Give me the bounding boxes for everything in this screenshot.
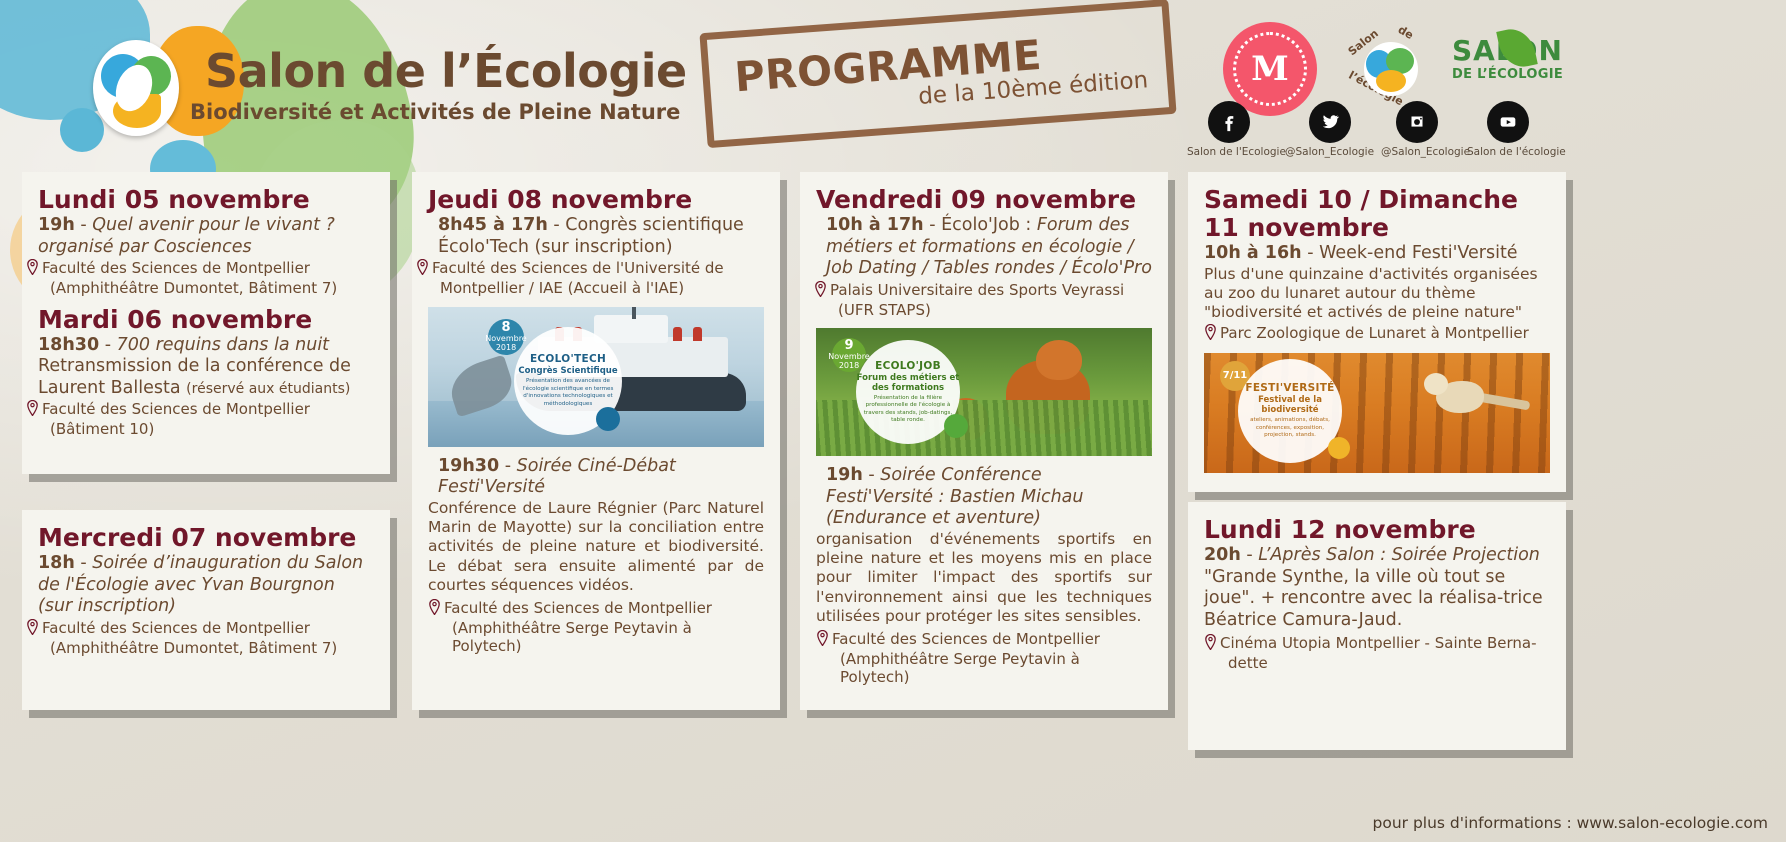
event-time: 10h à 17h [826, 215, 924, 235]
event-place: Parc Zoologique de Lunaret à Montpellier [1204, 324, 1550, 344]
event-place: Faculté des Sciences de Montpellier (Amp… [38, 619, 374, 658]
event-description: organisation d'événements sportifs en pl… [816, 530, 1152, 627]
event-vendredi-09-conference: 19h - Soirée Conférence Festi'Versité : … [816, 465, 1152, 686]
event-place: Faculté des Sciences de Montpellier (Bât… [38, 400, 374, 439]
event-weekend-festiversite: 10h à 16h - Week-end Festi'Versité Plus … [1204, 243, 1550, 344]
location-pin-icon [428, 259, 429, 279]
youtube-icon[interactable] [1487, 101, 1529, 143]
event-place: Cinéma Utopia Montpellier - Sainte Berna… [1204, 634, 1550, 673]
page-subtitle: Biodiversité et Activités de Pleine Natu… [190, 100, 680, 124]
location-pin-icon [1216, 324, 1217, 344]
event-mercredi-07: 18h - Soirée d’inauguration du Salon de … [38, 553, 374, 657]
event-time: 19h [826, 465, 863, 485]
twitter-label: @Salon_Ecologie [1285, 146, 1374, 158]
day-title-jeudi-08: Jeudi 08 novembre [428, 186, 764, 214]
twitter-icon[interactable] [1309, 101, 1351, 143]
event-sep: - [75, 215, 92, 235]
card-lundi12: Lundi 12 novembre 20h - L’Après Salon : … [1188, 502, 1566, 750]
salon-ecologie-round-logo-icon: Salon de l’écologie [1340, 20, 1442, 116]
event-note: (réservé aux étudiants) [186, 381, 350, 397]
day-title-mardi-06: Mardi 06 novembre [38, 306, 374, 334]
event-place: Faculté des Sciences de Montpellier (Amp… [428, 599, 764, 656]
ecolotech-date-badge: 8 Novembre 2018 [488, 319, 524, 355]
footer-info: pour plus d'informations : www.salon-eco… [1373, 814, 1769, 832]
event-jeudi-08-congres: 8h45 à 17h - Congrès scientifique Écolo'… [428, 215, 764, 298]
location-pin-icon [1216, 634, 1217, 654]
event-place: Faculté des Sciences de l'Université de … [428, 259, 764, 298]
event-time: 18h30 [38, 335, 99, 355]
card-lundi05-mardi06: Lundi 05 novembre 19h - Quel avenir pour… [22, 172, 390, 474]
festiversite-badge: FESTI'VERSITÉ Festival de la biodiversit… [1238, 359, 1342, 463]
event-place: Faculté des Sciences de Montpellier (Amp… [816, 630, 1152, 687]
event-sep: - [1241, 545, 1258, 565]
instagram-icon[interactable] [1396, 101, 1438, 143]
festiversite-photo: 7/11 FESTI'VERSITÉ Festival de la biodiv… [1204, 353, 1550, 473]
event-time: 10h à 16h [1204, 243, 1302, 263]
location-pin-icon [826, 281, 827, 301]
location-pin-icon [38, 400, 39, 420]
salon-ecologie-green-logo-icon: SALON DE L’ÉCOLOGIE [1452, 34, 1582, 104]
day-title-lundi-05: Lundi 05 novembre [38, 186, 374, 214]
day-title-vendredi-09: Vendredi 09 novembre [816, 186, 1152, 214]
event-sep: - [924, 215, 941, 235]
day-title-samedi-dimanche: Samedi 10 / Dimanche 11 novembre [1204, 186, 1550, 242]
event-title-2: organisé par Cosciences [38, 237, 374, 259]
event-sep: - [99, 335, 116, 355]
green-logo-subtitle: DE L’ÉCOLOGIE [1452, 67, 1582, 82]
location-pin-icon [440, 599, 441, 619]
event-mardi-06: 18h30 - 700 requins dans la nuit Retrans… [38, 335, 374, 439]
event-description: Plus d'une quinzaine d'activités organis… [1204, 265, 1550, 323]
facebook-label: Salon de l'Ecologie [1187, 146, 1286, 158]
event-title: 700 requins dans la nuit [117, 335, 329, 355]
event-time: 19h30 [438, 456, 499, 476]
page-header: Salon de l’Écologie Biodiversité et Acti… [0, 0, 1786, 168]
instagram-label: @Salon_Ecologie [1381, 146, 1470, 158]
salon-logo-icon [93, 40, 179, 136]
page-title: Salon de l’Écologie [205, 44, 687, 98]
round-logo-text-2: de [1396, 23, 1416, 42]
location-pin-icon [828, 630, 829, 650]
card-jeudi08: Jeudi 08 novembre 8h45 à 17h - Congrès s… [412, 172, 780, 710]
event-sep: - [1302, 243, 1319, 263]
day-title-mercredi-07: Mercredi 07 novembre [38, 524, 374, 552]
event-lundi-05: 19h - Quel avenir pour le vivant ? organ… [38, 215, 374, 298]
event-sep: - [548, 215, 565, 235]
event-time: 20h [1204, 545, 1241, 565]
location-pin-icon [38, 259, 39, 279]
event-sep: - [863, 465, 880, 485]
event-title: Quel avenir pour le vivant ? [92, 215, 335, 235]
location-pin-icon [38, 619, 39, 639]
event-time: 18h [38, 553, 75, 573]
event-title-plain: Écolo'Job : [941, 215, 1037, 235]
event-sep: - [499, 456, 516, 476]
event-vendredi-09-ecolojob: 10h à 17h - Écolo'Job : Forum des métier… [816, 215, 1152, 319]
event-description: "Grande Synthe, la ville où tout se joue… [1204, 567, 1543, 630]
event-place: Palais Universitaire des Sports Veyrassi… [816, 281, 1152, 320]
card-mercredi07: Mercredi 07 novembre 18h - Soirée d’inau… [22, 510, 390, 710]
event-time: 8h45 à 17h [438, 215, 548, 235]
event-time: 19h [38, 215, 75, 235]
event-lundi-12: 20h - L’Après Salon : Soirée Projection … [1204, 545, 1550, 673]
ecolojob-photo: 9 Novembre 2018 ECOLO'JOB Forum des méti… [816, 328, 1152, 456]
ecolotech-photo: 8 Novembre 2018 ECOLO'TECH Congrès Scien… [428, 307, 764, 447]
facebook-icon[interactable] [1208, 101, 1250, 143]
card-samedi10-dimanche11: Samedi 10 / Dimanche 11 novembre 10h à 1… [1188, 172, 1566, 492]
card-vendredi09: Vendredi 09 novembre 10h à 17h - Écolo'J… [800, 172, 1168, 710]
event-title: Week-end Festi'Versité [1319, 243, 1518, 263]
day-title-lundi-12: Lundi 12 novembre [1204, 516, 1550, 544]
event-place: Faculté des Sciences de Montpellier (Amp… [38, 259, 374, 298]
event-title: L’Après Salon : Soirée Projection [1258, 545, 1540, 565]
event-sep: - [75, 553, 92, 573]
event-jeudi-08-cine: 19h30 - Soirée Ciné-Débat Festi'Versité … [428, 456, 764, 656]
event-description: Conférence de Laure Régnier (Parc Nature… [428, 499, 764, 596]
youtube-label: Salon de l'écologie [1467, 146, 1566, 158]
montpellier-logo-letter: M [1251, 49, 1289, 89]
